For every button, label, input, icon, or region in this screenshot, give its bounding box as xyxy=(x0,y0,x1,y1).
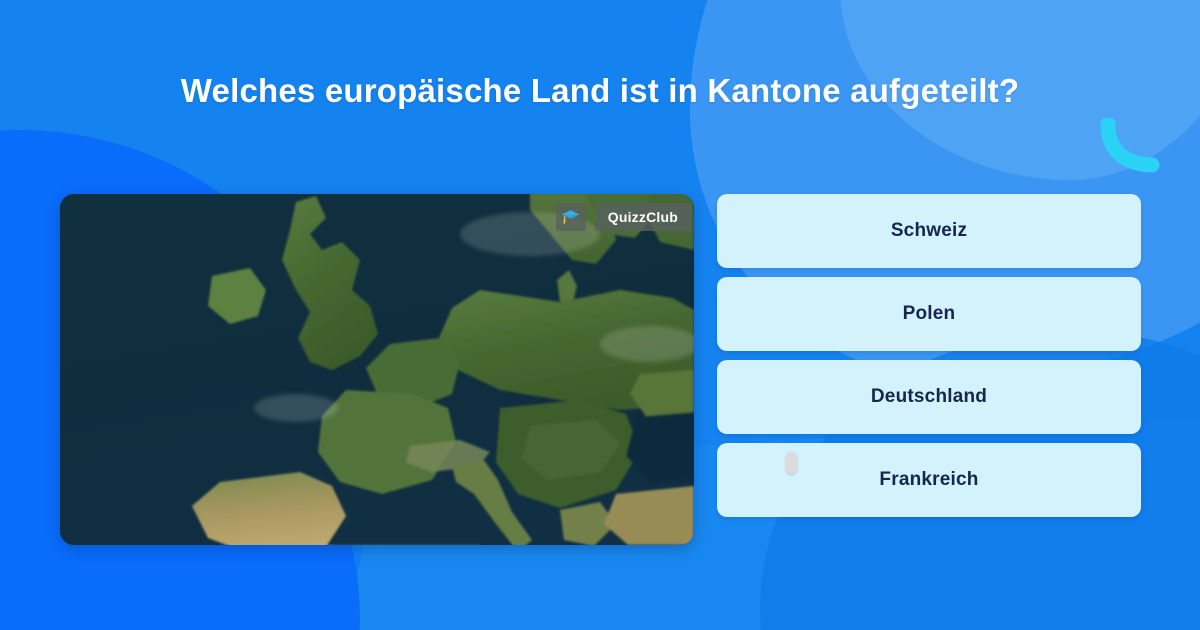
quiz-slide: Welches europäische Land ist in Kantone … xyxy=(0,0,1200,630)
question-title: Welches europäische Land ist in Kantone … xyxy=(0,72,1200,110)
europe-satellite-map xyxy=(60,194,694,545)
brand-watermark: QuizzClub xyxy=(556,203,692,231)
answer-label: Schweiz xyxy=(891,220,967,242)
brand-name: QuizzClub xyxy=(595,203,692,231)
answer-option-3[interactable]: Deutschland xyxy=(717,360,1141,434)
cyan-swoosh-icon xyxy=(1100,118,1170,176)
answer-list: Schweiz Polen Deutschland Frankreich xyxy=(717,194,1141,517)
question-image: QuizzClub xyxy=(60,194,694,545)
answer-label: Deutschland xyxy=(871,386,987,408)
drag-handle-icon[interactable] xyxy=(786,452,797,474)
answer-label: Polen xyxy=(903,303,956,325)
graduation-cap-icon xyxy=(556,203,586,231)
answer-label: Frankreich xyxy=(879,469,978,491)
answer-option-1[interactable]: Schweiz xyxy=(717,194,1141,268)
answer-option-2[interactable]: Polen xyxy=(717,277,1141,351)
answer-option-4[interactable]: Frankreich xyxy=(717,443,1141,517)
